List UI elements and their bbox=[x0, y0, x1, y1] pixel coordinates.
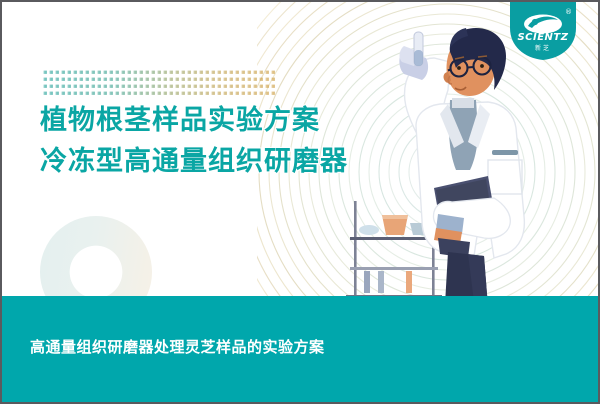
headline-line-2: 冷冻型高通量组织研磨器 bbox=[40, 148, 348, 175]
dot-grid-pattern bbox=[43, 70, 277, 97]
page-title: 植物根茎样品实验方案 冷冻型高通量组织研磨器 bbox=[40, 107, 348, 175]
bottom-banner: 高通量组织研磨器处理灵芝样品的实验方案 bbox=[2, 296, 598, 402]
lab-cart-illustration bbox=[342, 197, 452, 309]
poster-canvas: 植物根茎样品实验方案 冷冻型高通量组织研磨器 ® SCIENTZ 新芝 高通量组… bbox=[0, 0, 600, 404]
logo-wordmark: SCIENTZ bbox=[510, 32, 576, 43]
logo-trademark: ® bbox=[565, 8, 572, 16]
headline-line-1: 植物根茎样品实验方案 bbox=[40, 107, 348, 134]
logo-wordmark-sub: 新芝 bbox=[510, 43, 576, 52]
scientz-logo[interactable]: ® SCIENTZ 新芝 bbox=[510, 2, 576, 60]
banner-caption: 高通量组织研磨器处理灵芝样品的实验方案 bbox=[30, 336, 325, 357]
